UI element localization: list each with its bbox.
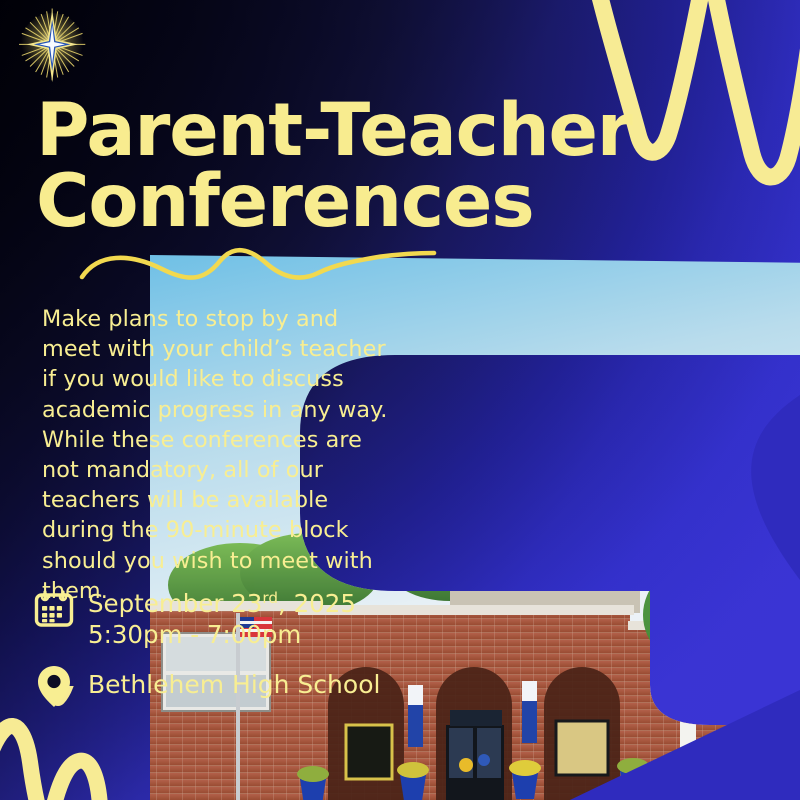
calendar-icon	[30, 588, 78, 630]
event-location-row: Bethlehem High School	[30, 663, 380, 709]
event-time: 5:30pm - 7:00pm	[88, 620, 301, 649]
headline-line-2: Conferences	[36, 167, 656, 238]
overlay-wedge-right	[680, 395, 800, 580]
event-date-year: , 2025	[278, 589, 356, 618]
event-date-ordinal: rd	[262, 589, 278, 607]
bethlehem-star-logo	[8, 3, 100, 95]
body-paragraph: Make plans to stop by and meet with your…	[42, 304, 394, 606]
poster-canvas: Parent-Teacher Conferences Make plans to…	[0, 0, 800, 800]
event-date-text: September 23rd, 2025 5:30pm - 7:00pm	[78, 588, 356, 651]
overlay-wedge-bottom-right	[570, 680, 800, 800]
page-title: Parent-Teacher Conferences	[36, 96, 656, 238]
event-location-text: Bethlehem High School	[78, 663, 380, 701]
wavy-divider-icon	[78, 245, 438, 287]
event-date-row: September 23rd, 2025 5:30pm - 7:00pm	[30, 588, 356, 651]
map-pin-icon	[30, 663, 78, 709]
event-date-monthday: September 23	[88, 589, 262, 618]
